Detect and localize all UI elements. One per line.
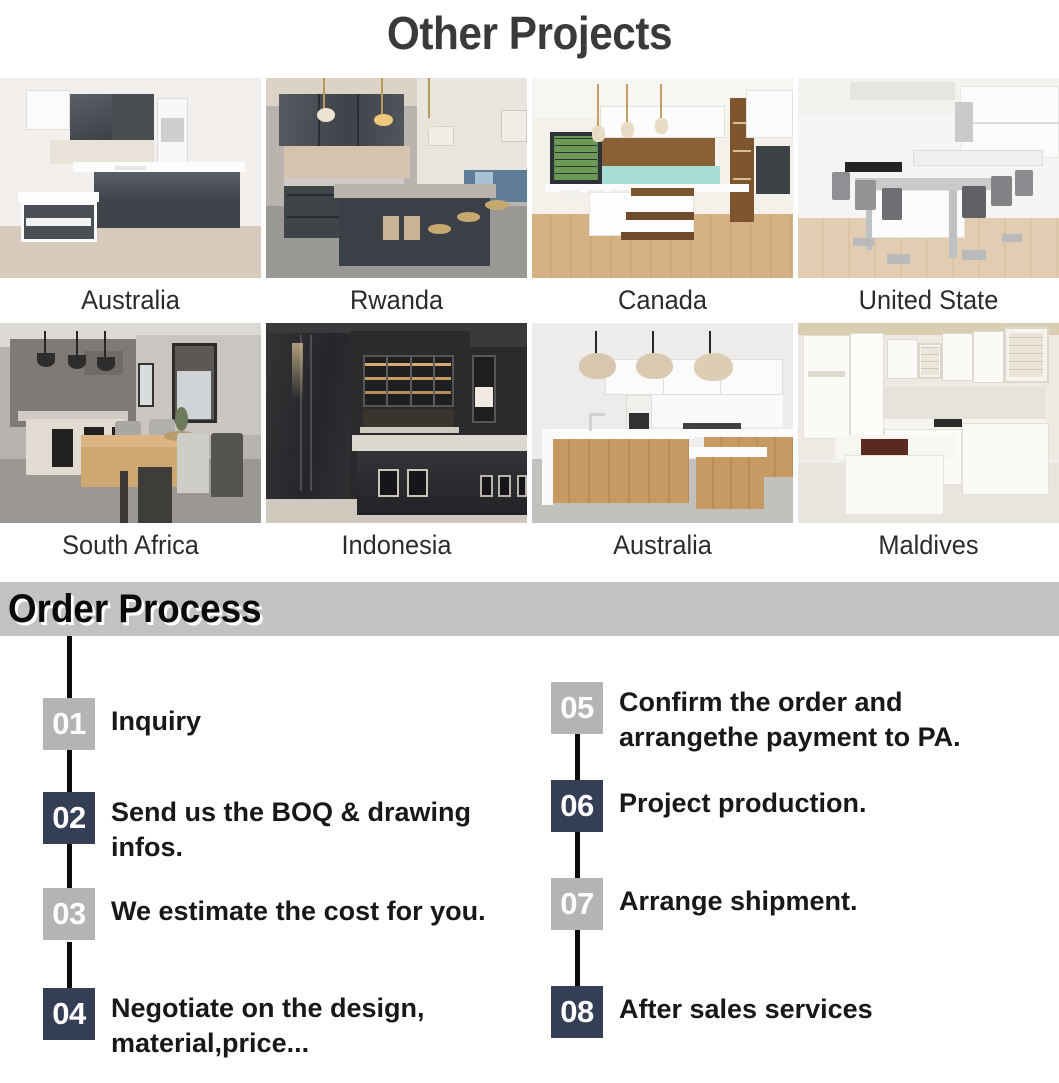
gallery-item-south-africa[interactable]: South Africa (0, 323, 261, 568)
process-step[interactable]: 06 Project production. (551, 780, 867, 832)
page-title: Other Projects (42, 6, 1016, 60)
gallery-caption: Australia (540, 523, 785, 568)
step-label: Project production. (619, 780, 867, 821)
gallery-item-united-state[interactable]: United State (798, 78, 1059, 323)
step-label: Send us the BOQ & drawing infos. (111, 792, 471, 865)
kitchen-photo-canada (532, 78, 793, 278)
process-step[interactable]: 08 After sales services (551, 986, 873, 1038)
gallery-item-maldives[interactable]: Maldives (798, 323, 1059, 568)
process-step[interactable]: 05 Confirm the order and arrangethe paym… (551, 682, 961, 755)
step-number-badge: 02 (43, 792, 95, 844)
order-process-steps: 01 Inquiry 02 Send us the BOQ & drawing … (0, 636, 1059, 1083)
process-column-left: 01 Inquiry 02 Send us the BOQ & drawing … (0, 636, 540, 1083)
kitchen-photo-south-africa (0, 323, 261, 523)
step-number-badge: 07 (551, 878, 603, 930)
step-label: Negotiate on the design, material,price.… (111, 988, 425, 1061)
step-number-badge: 03 (43, 888, 95, 940)
kitchen-photo-indonesia (266, 323, 527, 523)
gallery-item-australia-1[interactable]: Australia (0, 78, 261, 323)
order-process-banner: Order Process (0, 582, 1059, 636)
gallery-item-canada[interactable]: Canada (532, 78, 793, 323)
order-process-title: Order Process (8, 583, 262, 635)
process-step[interactable]: 04 Negotiate on the design, material,pri… (43, 988, 425, 1061)
process-step[interactable]: 03 We estimate the cost for you. (43, 888, 486, 940)
gallery-item-indonesia[interactable]: Indonesia (266, 323, 527, 568)
gallery-caption: United State (806, 278, 1051, 323)
kitchen-photo-united-state (798, 78, 1059, 278)
step-number-badge: 04 (43, 988, 95, 1040)
kitchen-photo-australia-2 (532, 323, 793, 523)
connector-line-right (575, 832, 580, 882)
step-label: Arrange shipment. (619, 878, 858, 919)
gallery-caption: South Africa (8, 523, 253, 568)
gallery-row-2: South Africa (0, 323, 1059, 568)
kitchen-photo-australia-1 (0, 78, 261, 278)
slide-page: Other Projects Australia (0, 0, 1059, 1083)
gallery-item-rwanda[interactable]: Rwanda (266, 78, 527, 323)
gallery-item-australia-2[interactable]: Australia (532, 323, 793, 568)
process-step[interactable]: 01 Inquiry (43, 698, 201, 750)
process-step[interactable]: 07 Arrange shipment. (551, 878, 858, 930)
process-step[interactable]: 02 Send us the BOQ & drawing infos. (43, 792, 471, 865)
kitchen-photo-maldives (798, 323, 1059, 523)
step-label: We estimate the cost for you. (111, 888, 486, 929)
gallery-caption: Maldives (806, 523, 1051, 568)
connector-line-left (67, 942, 72, 994)
step-label: After sales services (619, 986, 873, 1027)
gallery-row-1: Australia (0, 78, 1059, 323)
gallery-caption: Indonesia (274, 523, 519, 568)
project-gallery: Australia (0, 78, 1059, 568)
step-number-badge: 01 (43, 698, 95, 750)
kitchen-photo-rwanda (266, 78, 527, 278)
gallery-caption: Canada (540, 278, 785, 323)
gallery-caption: Rwanda (274, 278, 519, 323)
process-column-right: 05 Confirm the order and arrangethe paym… (540, 636, 1059, 1083)
connector-line-left (67, 750, 72, 798)
step-number-badge: 05 (551, 682, 603, 734)
gallery-caption: Australia (8, 278, 253, 323)
step-label: Inquiry (111, 698, 201, 739)
step-number-badge: 06 (551, 780, 603, 832)
step-number-badge: 08 (551, 986, 603, 1038)
step-label: Confirm the order and arrangethe payment… (619, 682, 961, 755)
connector-line-left (67, 636, 72, 702)
connector-line-right (575, 930, 580, 988)
